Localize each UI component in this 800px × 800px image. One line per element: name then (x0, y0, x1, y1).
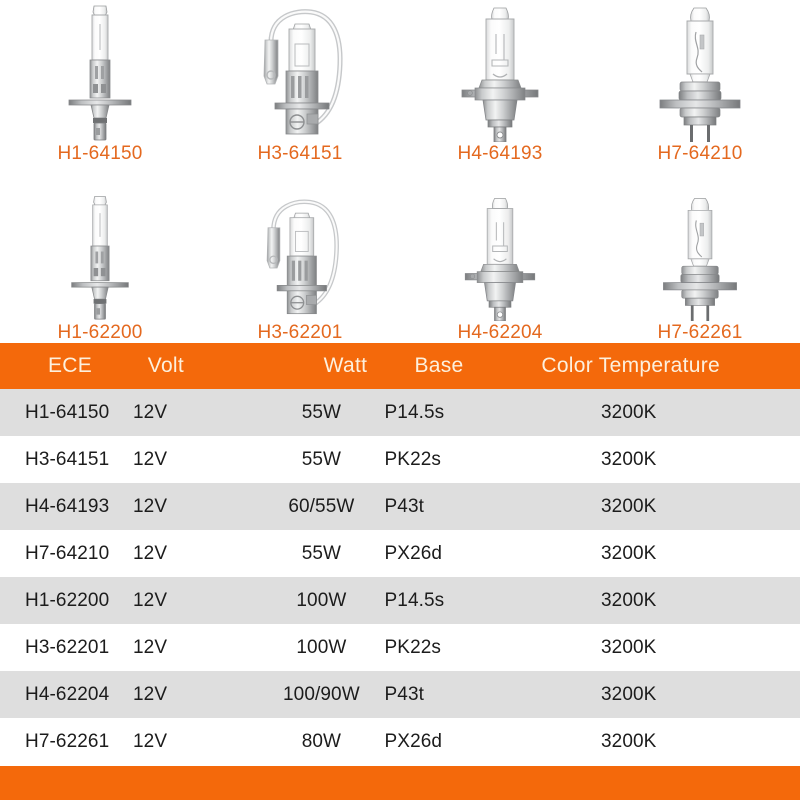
halogen-bulb-h4-icon (400, 175, 600, 323)
cell-color-temperature: 3200K (505, 590, 800, 612)
bulb-cell-h1-62200[interactable]: H1-62200 (0, 175, 200, 350)
bulb-cell-h4-64193[interactable]: H4-64193 (400, 0, 600, 175)
halogen-bulb-h4-icon (400, 0, 600, 144)
halogen-bulb-h3-icon (200, 175, 400, 323)
cell-volt: 12V (132, 684, 263, 706)
cell-volt: 12V (132, 496, 263, 518)
cell-volt: 12V (132, 402, 263, 424)
cell-volt: 12V (132, 543, 263, 565)
table-row: H4-64193 12V 60/55W P43t 3200K (0, 483, 800, 530)
cell-watt: 100W (263, 590, 379, 612)
table-row: H7-64210 12V 55W PX26d 3200K (0, 530, 800, 577)
cell-ece: H1-62200 (0, 590, 132, 612)
bulb-row-1: H1-64150 (0, 0, 800, 175)
halogen-bulb-h1-icon (0, 175, 200, 323)
specification-table: ECE Volt Watt Base Color Temperature H1-… (0, 343, 800, 765)
column-header-volt: Volt (138, 354, 285, 378)
table-row: H3-64151 12V 55W PK22s 3200K (0, 436, 800, 483)
cell-watt: 80W (263, 731, 379, 753)
cell-watt: 100W (263, 637, 379, 659)
bulb-caption: H3-64151 (257, 144, 342, 175)
cell-watt: 60/55W (263, 496, 379, 518)
bulb-caption: H4-64193 (457, 144, 542, 175)
bulb-cell-h3-64151[interactable]: H3-64151 (200, 0, 400, 175)
cell-base: PK22s (380, 449, 506, 471)
table-row: H1-62200 12V 100W P14.5s 3200K (0, 577, 800, 624)
column-header-base: Base (406, 354, 541, 378)
cell-volt: 12V (132, 637, 263, 659)
cell-base: P14.5s (380, 402, 506, 424)
cell-volt: 12V (132, 449, 263, 471)
cell-volt: 12V (132, 731, 263, 753)
cell-ece: H7-62261 (0, 731, 132, 753)
table-row: H1-64150 12V 55W P14.5s 3200K (0, 389, 800, 436)
halogen-bulb-h3-icon (200, 0, 400, 144)
cell-base: PK22s (380, 637, 506, 659)
footer-accent-bar (0, 766, 800, 800)
cell-base: P43t (380, 684, 506, 706)
cell-color-temperature: 3200K (505, 402, 800, 424)
cell-base: P14.5s (380, 590, 506, 612)
cell-color-temperature: 3200K (505, 496, 800, 518)
column-header-color-temperature: Color Temperature (541, 354, 800, 378)
cell-watt: 55W (263, 449, 379, 471)
cell-ece: H7-64210 (0, 543, 132, 565)
table-row: H7-62261 12V 80W PX26d 3200K (0, 718, 800, 765)
cell-watt: 55W (263, 543, 379, 565)
halogen-bulb-h1-icon (0, 0, 200, 144)
table-row: H4-62204 12V 100/90W P43t 3200K (0, 671, 800, 718)
cell-color-temperature: 3200K (505, 684, 800, 706)
bulb-caption: H7-64210 (657, 144, 742, 175)
cell-ece: H1-64150 (0, 402, 132, 424)
bulb-cell-h1-64150[interactable]: H1-64150 (0, 0, 200, 175)
cell-watt: 100/90W (263, 684, 379, 706)
cell-volt: 12V (132, 590, 263, 612)
table-row: H3-62201 12V 100W PK22s 3200K (0, 624, 800, 671)
cell-base: PX26d (380, 731, 506, 753)
bulb-row-2: H1-62200 (0, 175, 800, 350)
cell-watt: 55W (263, 402, 379, 424)
bulb-spec-page: H1-64150 (0, 0, 800, 800)
column-header-watt: Watt (284, 354, 406, 378)
cell-ece: H3-64151 (0, 449, 132, 471)
cell-base: PX26d (380, 543, 506, 565)
cell-ece: H4-64193 (0, 496, 132, 518)
cell-color-temperature: 3200K (505, 543, 800, 565)
cell-ece: H3-62201 (0, 637, 132, 659)
column-header-ece: ECE (0, 354, 138, 378)
bulb-gallery: H1-64150 (0, 0, 800, 350)
halogen-bulb-h7-icon (600, 0, 800, 144)
bulb-cell-h7-62261[interactable]: H7-62261 (600, 175, 800, 350)
cell-color-temperature: 3200K (505, 731, 800, 753)
bulb-cell-h4-62204[interactable]: H4-62204 (400, 175, 600, 350)
cell-ece: H4-62204 (0, 684, 132, 706)
cell-base: P43t (380, 496, 506, 518)
halogen-bulb-h7-icon (600, 175, 800, 323)
bulb-cell-h3-62201[interactable]: H3-62201 (200, 175, 400, 350)
bulb-cell-h7-64210[interactable]: H7-64210 (600, 0, 800, 175)
bulb-caption: H1-64150 (57, 144, 142, 175)
cell-color-temperature: 3200K (505, 449, 800, 471)
cell-color-temperature: 3200K (505, 637, 800, 659)
table-header-row: ECE Volt Watt Base Color Temperature (0, 343, 800, 389)
